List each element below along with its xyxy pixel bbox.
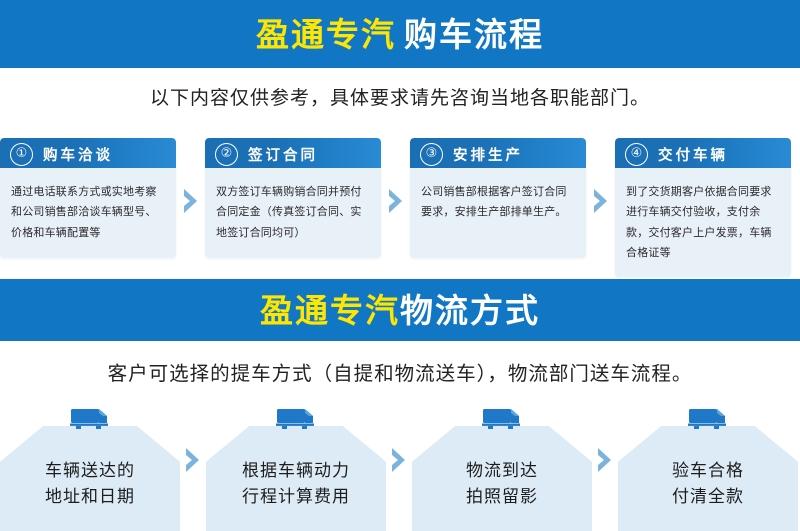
step-body-3: 公司销售部根据客户签订合同要求，安排生产部排单生产。 — [410, 170, 586, 258]
step-title-3: 安排生产 — [453, 144, 523, 165]
purchase-banner-brand: 盈通专汽 — [256, 16, 396, 53]
purchase-step-header-3: ③ 安排生产 — [410, 138, 586, 170]
logistics-banner-title: 物流方式 — [400, 292, 540, 329]
logistics-step-card-1[interactable]: 车辆送达的 地址和日期 — [0, 406, 180, 531]
truck-icon — [685, 406, 731, 432]
logistics-label-4-line1: 验车合格 — [618, 458, 798, 484]
chevron-right-icon — [389, 446, 409, 474]
step-body-1: 通过电话联系方式或实地考察和公司销售部洽谈车辆型号、价格和车辆配置等 — [0, 170, 176, 258]
logistics-banner-brand: 盈通专汽 — [260, 292, 400, 329]
step-title-1: 购车洽谈 — [43, 144, 113, 165]
purchase-process-banner: 盈通专汽购车流程 — [0, 0, 800, 68]
logistics-label-2: 根据车辆动力 行程计算费用 — [206, 458, 386, 511]
purchase-step-arrow-2 — [381, 187, 410, 215]
purchase-step-card-2[interactable]: ② 签订合同 双方签订车辆购销合同并预付合同定金（传真签订合同、实地签订合同均可… — [205, 138, 381, 258]
infographic-page: 盈通专汽购车流程 以下内容仅供参考，具体要求请先咨询当地各职能部门。 ① 购车洽… — [0, 0, 800, 531]
purchase-step-card-4[interactable]: ④ 交付车辆 到了交货期客户依据合同要求进行车辆交付验收，支付余款，交付客户上户… — [615, 138, 791, 277]
logistics-step-card-2[interactable]: 根据车辆动力 行程计算费用 — [206, 406, 386, 531]
purchase-steps-row: ① 购车洽谈 通过电话联系方式或实地考察和公司销售部洽谈车辆型号、价格和车辆配置… — [0, 138, 800, 248]
logistics-label-1-line1: 车辆送达的 — [0, 458, 180, 484]
logistics-label-1: 车辆送达的 地址和日期 — [0, 458, 180, 511]
logistics-step-arrow-3 — [592, 406, 618, 531]
truck-icon — [67, 406, 113, 432]
step-title-2: 签订合同 — [248, 144, 318, 165]
logistics-method-banner: 盈通专汽物流方式 — [0, 279, 800, 341]
logistics-step-card-3[interactable]: 物流到达 拍照留影 — [412, 406, 592, 531]
purchase-subtitle: 以下内容仅供参考，具体要求请先咨询当地各职能部门。 — [0, 83, 800, 110]
logistics-steps-row: 车辆送达的 地址和日期 根据车辆动力 行程计算费用 — [0, 406, 800, 531]
logistics-subtitle: 客户可选择的提车方式（自提和物流送车），物流部门送车流程。 — [0, 357, 800, 386]
chevron-right-icon — [591, 187, 611, 215]
chevron-right-icon — [386, 187, 406, 215]
logistics-label-2-line2: 行程计算费用 — [206, 484, 386, 510]
truck-icon — [479, 406, 525, 432]
purchase-banner-text: 盈通专汽购车流程 — [256, 18, 544, 51]
purchase-banner-title: 购车流程 — [404, 16, 544, 53]
logistics-banner-text: 盈通专汽物流方式 — [260, 294, 540, 327]
step-title-4: 交付车辆 — [658, 144, 728, 165]
logistics-label-2-line1: 根据车辆动力 — [206, 458, 386, 484]
step-body-4: 到了交货期客户依据合同要求进行车辆交付验收，支付余款，交付客户上户发票，车辆合格… — [615, 170, 791, 277]
purchase-step-card-1[interactable]: ① 购车洽谈 通过电话联系方式或实地考察和公司销售部洽谈车辆型号、价格和车辆配置… — [0, 138, 176, 258]
logistics-label-3-line2: 拍照留影 — [412, 484, 592, 510]
chevron-right-icon — [595, 446, 615, 474]
logistics-step-arrow-2 — [386, 406, 412, 531]
logistics-step-card-4[interactable]: 验车合格 付清全款 — [618, 406, 798, 531]
purchase-step-arrow-3 — [586, 187, 615, 215]
purchase-step-card-3[interactable]: ③ 安排生产 公司销售部根据客户签订合同要求，安排生产部排单生产。 — [410, 138, 586, 258]
step-number-badge-2: ② — [215, 143, 238, 166]
chevron-right-icon — [181, 187, 201, 215]
step-number-badge-4: ④ — [625, 143, 648, 166]
purchase-step-arrow-1 — [176, 187, 205, 215]
logistics-label-3: 物流到达 拍照留影 — [412, 458, 592, 511]
logistics-label-1-line2: 地址和日期 — [0, 484, 180, 510]
step-number-badge-3: ③ — [420, 143, 443, 166]
truck-icon — [273, 406, 319, 432]
purchase-step-header-1: ① 购车洽谈 — [0, 138, 176, 170]
step-body-2: 双方签订车辆购销合同并预付合同定金（传真签订合同、实地签订合同均可） — [205, 170, 381, 258]
logistics-label-4: 验车合格 付清全款 — [618, 458, 798, 511]
purchase-step-header-2: ② 签订合同 — [205, 138, 381, 170]
logistics-label-3-line1: 物流到达 — [412, 458, 592, 484]
chevron-right-icon — [183, 446, 203, 474]
step-number-badge-1: ① — [10, 143, 33, 166]
purchase-step-header-4: ④ 交付车辆 — [615, 138, 791, 170]
logistics-label-4-line2: 付清全款 — [618, 484, 798, 510]
logistics-step-arrow-1 — [180, 406, 206, 531]
